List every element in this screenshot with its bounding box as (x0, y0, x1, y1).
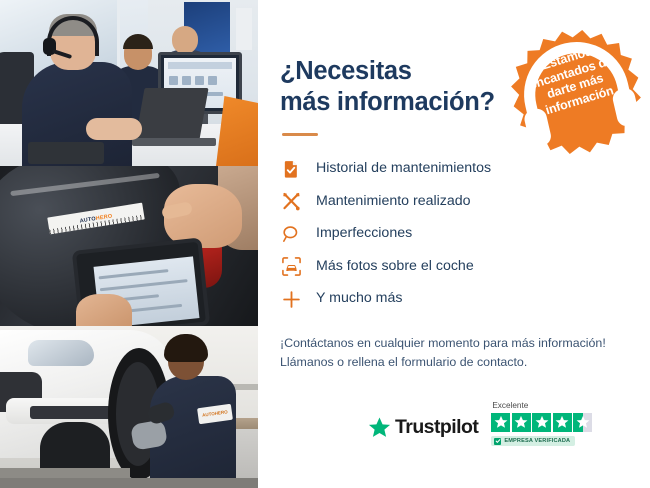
mechanic-wheel-photo: AUTOHERO (0, 326, 258, 488)
trustpilot-star-half (573, 413, 592, 432)
photo1-monitor-row (208, 76, 217, 85)
photo3-headlight (28, 340, 94, 366)
photo1-laptop-base (132, 138, 216, 146)
trustpilot-star (553, 413, 572, 432)
info-promo-card: AUTOHERO (0, 0, 650, 488)
photo2-tablet-line (99, 269, 169, 279)
photo1-tablet (28, 142, 104, 164)
wrench-screwdriver-icon (280, 191, 302, 213)
trustpilot-star (532, 413, 551, 432)
trustpilot-wordmark: Trustpilot (395, 416, 478, 439)
photo1-wall-poster-2 (236, 8, 252, 50)
page-title: ¿Necesitas más información? (280, 56, 515, 117)
photo1-agent-3-head (172, 26, 198, 54)
verified-business-badge: EMPRESA VERIFICADA (491, 436, 575, 446)
feature-item-maintenance-history: Historial de mantenimientos (280, 158, 628, 180)
plus-icon (280, 288, 302, 310)
trustpilot-rating-label: Excelente (492, 401, 528, 410)
trustpilot-star (512, 413, 531, 432)
trustpilot-widget[interactable]: Trustpilot Excelente (368, 401, 628, 446)
car-inspection-ruler-photo: AUTOHERO (0, 166, 258, 326)
call-center-agents-photo (0, 0, 258, 166)
trustpilot-rating: Excelente (491, 401, 592, 446)
feature-label: Más fotos sobre el coche (316, 259, 474, 275)
trustpilot-stars (491, 413, 592, 432)
photo1-monitor-toolbar (168, 62, 232, 69)
photo2-tablet-line (100, 279, 188, 291)
content-panel: ¿Necesitas más información? Estamos enca… (258, 0, 650, 488)
feature-label: Mantenimiento realizado (316, 194, 471, 210)
feature-label: Historial de mantenimientos (316, 161, 491, 177)
feature-label: Y mucho más (316, 291, 402, 307)
photo1-monitor-row (182, 76, 191, 85)
feature-item-more-photos: Más fotos sobre el coche (280, 256, 628, 278)
feature-label: Imperfecciones (316, 226, 412, 242)
feature-item-more: Y mucho más (280, 288, 628, 310)
contact-paragraph-line-1: ¡Contáctanos en cualquier momento para m… (280, 336, 606, 350)
photo1-monitor-row (195, 76, 204, 85)
photo1-agent-1-arm (86, 118, 142, 140)
title-divider (282, 133, 318, 136)
car-scan-icon (280, 256, 302, 278)
photo-column: AUTOHERO (0, 0, 258, 488)
document-check-icon (280, 158, 302, 180)
magnifier-icon (280, 223, 302, 245)
verified-business-label: EMPRESA VERIFICADA (504, 438, 570, 444)
trustpilot-star (491, 413, 510, 432)
support-badge: Estamos encantados de darte más informac… (499, 15, 650, 169)
page-title-line-2: más información? (280, 88, 495, 116)
photo2-hand-holding-tablet (76, 294, 132, 326)
contact-paragraph-line-2: Llámanos o rellena el formulario de cont… (280, 355, 527, 369)
trustpilot-star-icon (368, 416, 391, 439)
support-badge-content: Estamos encantados de darte más informac… (499, 15, 650, 169)
check-icon (494, 438, 501, 445)
trustpilot-logo: Trustpilot (368, 416, 478, 446)
page-title-line-1: ¿Necesitas (280, 57, 412, 85)
contact-paragraph: ¡Contáctanos en cualquier momento para m… (280, 334, 628, 372)
photo1-laptop-screen (135, 88, 208, 140)
photo1-monitor-row (169, 76, 178, 85)
feature-item-maintenance-done: Mantenimiento realizado (280, 191, 628, 213)
feature-item-imperfections: Imperfecciones (280, 223, 628, 245)
photo3-floor (0, 478, 258, 488)
feature-list: Historial de mantenimientos Mantenimient… (280, 158, 628, 310)
